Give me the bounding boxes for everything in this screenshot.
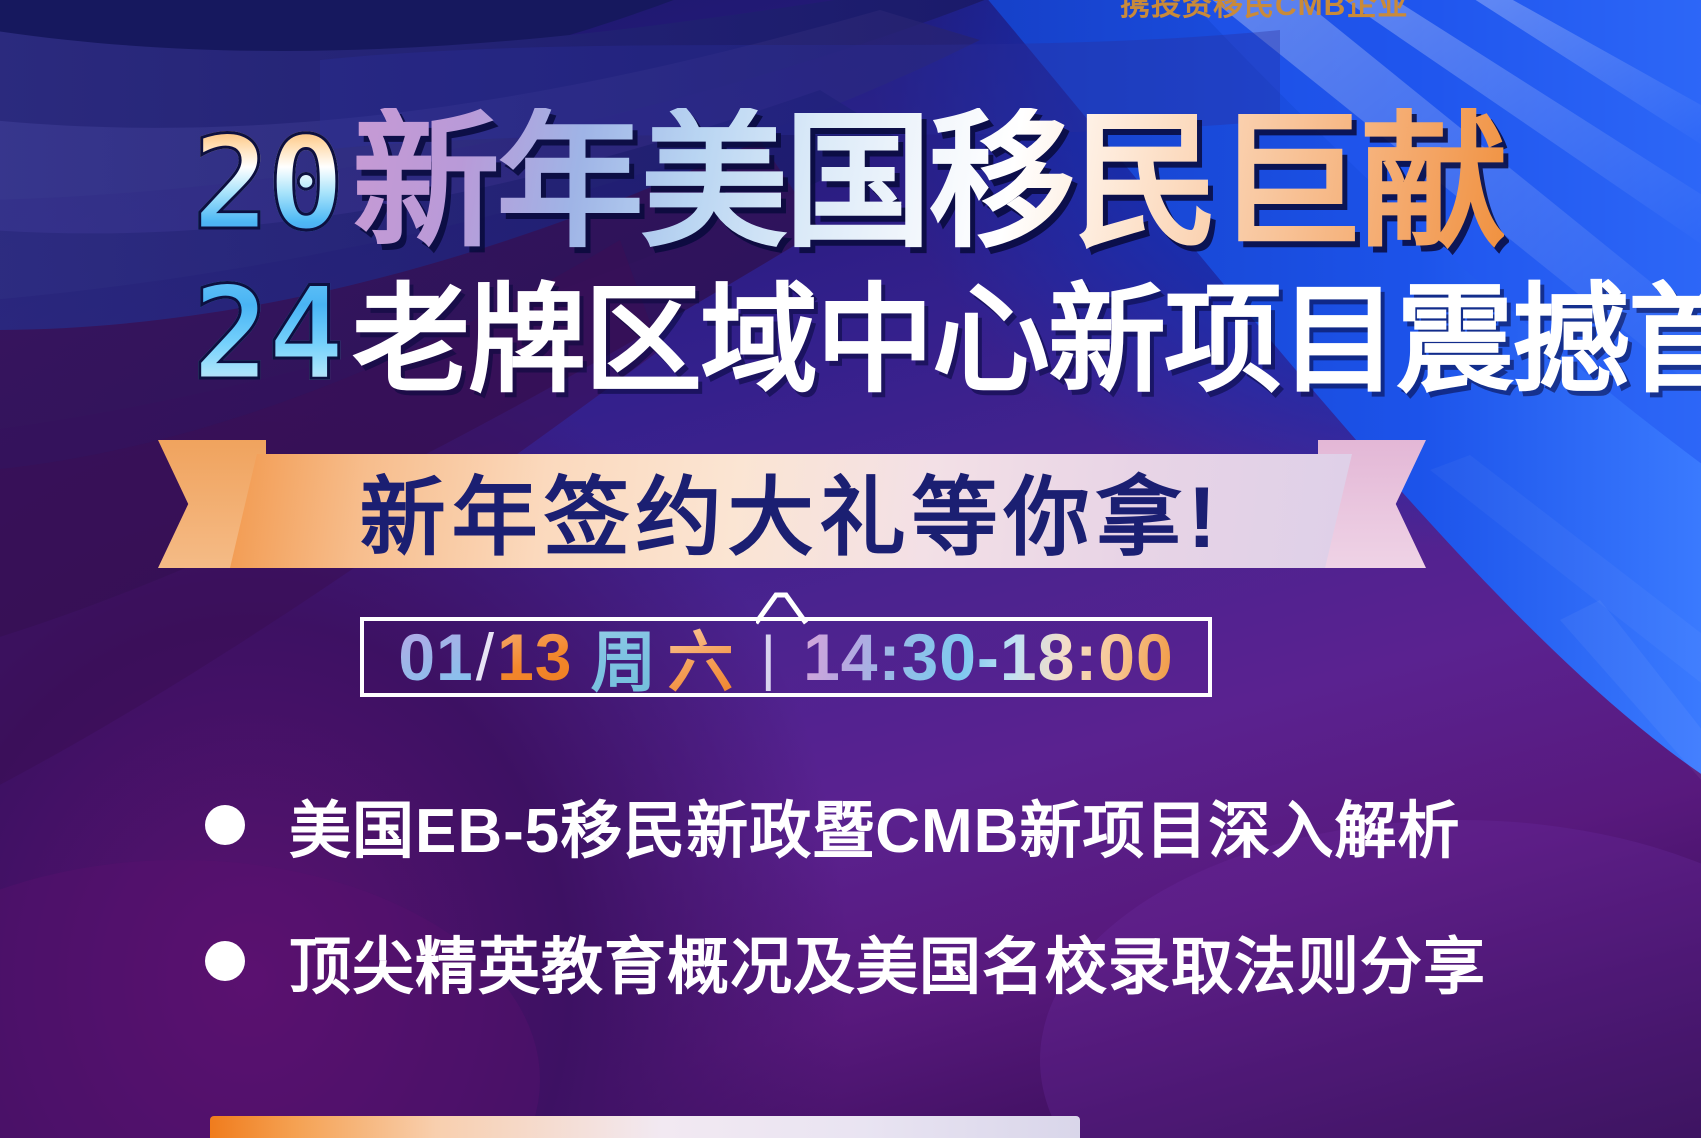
schedule-notch-icon (756, 591, 816, 625)
schedule-separator: | (735, 623, 804, 692)
ribbon-banner: 新年签约大礼等你拿! (158, 440, 1426, 568)
list-item-label: 顶尖精英教育概况及美国名校录取法则分享 (289, 916, 1486, 1006)
schedule-month: 01 (398, 619, 473, 695)
bullet-dot-icon (205, 941, 245, 981)
year-bottom-row: 24 (190, 260, 345, 410)
schedule-week-prefix: 周 (573, 609, 658, 705)
bullet-dot-icon (205, 805, 245, 845)
agenda-list: 美国EB-5移民新政暨CMB新项目深入解析 顶尖精英教育概况及美国名校录取法则分… (205, 780, 1605, 1052)
headline-secondary: 老牌区域中心新项目震撼首发 (352, 278, 1701, 404)
year-bottom-text: 24 (190, 260, 345, 410)
list-item: 顶尖精英教育概况及美国名校录取法则分享 (205, 916, 1605, 1006)
schedule-day: 13 (497, 619, 572, 695)
schedule-week-day: 六 (658, 609, 735, 705)
schedule-box: 01 / 13 周 六 | 14:30-18:00 (360, 617, 1212, 697)
schedule-slash: / (474, 619, 497, 695)
list-item: 美国EB-5移民新政暨CMB新项目深入解析 (205, 780, 1605, 870)
schedule-time-range: 14:30-18:00 (803, 619, 1174, 695)
year-top-row: 20 (190, 110, 345, 260)
list-item-label: 美国EB-5移民新政暨CMB新项目深入解析 (289, 780, 1460, 870)
headline-primary: 新年美国移民巨献 (352, 108, 1504, 258)
poster-canvas: 携投资移民CMB企业 20 24 新年美国移民巨献 老牌区域中心新项目震撼首发 … (0, 0, 1701, 1138)
top-partial-caption: 携投资移民CMB企业 (1120, 0, 1408, 24)
bottom-accent-bar (210, 1116, 1080, 1138)
year-badge-2024: 20 24 (190, 110, 345, 410)
ribbon-body: 新年签约大礼等你拿! (230, 454, 1352, 568)
year-top-text: 20 (190, 110, 345, 260)
ribbon-text: 新年签约大礼等你拿! (360, 447, 1223, 572)
